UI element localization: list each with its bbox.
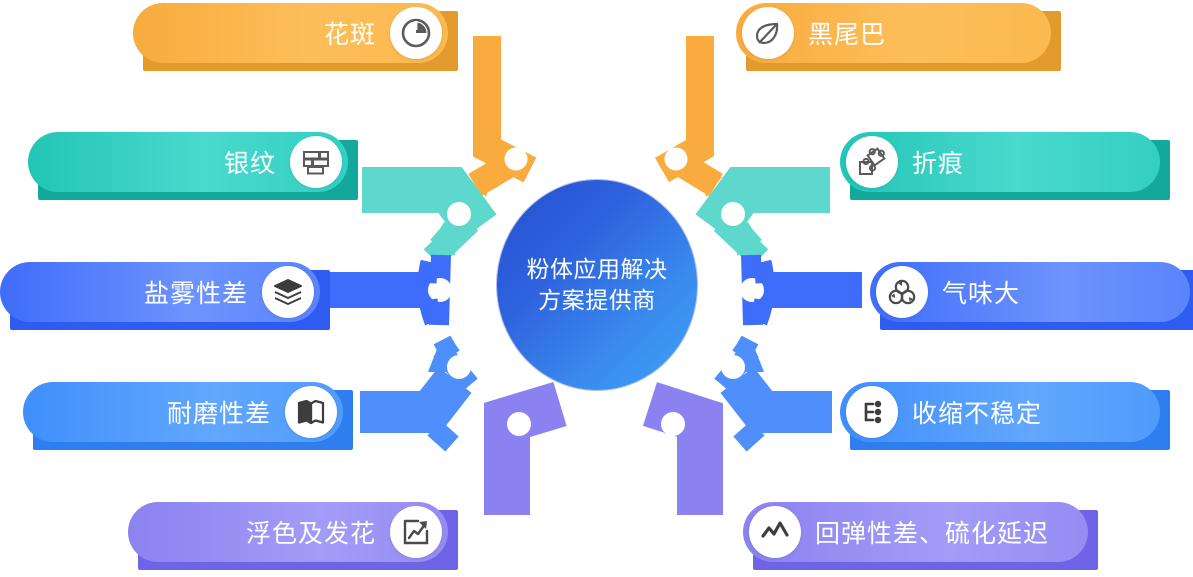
node-pill[interactable]: 耐磨性差 bbox=[23, 382, 343, 442]
node-shou-suo-bu-wen-ding[interactable]: 收缩不稳定 bbox=[840, 382, 1160, 442]
node-qi-wei-da[interactable]: 气味大 bbox=[870, 262, 1190, 322]
connector-yin-wen bbox=[362, 190, 478, 258]
diagram-canvas: 花斑 黑尾巴 银纹 bbox=[0, 0, 1193, 577]
connector-dot bbox=[721, 202, 745, 226]
node-hui-tan-xing-cha-liu-hua-yan-chi[interactable]: 回弹性差、硫化延迟 bbox=[743, 502, 1088, 562]
layers-icon bbox=[262, 266, 314, 318]
node-pill[interactable]: 回弹性差、硫化延迟 bbox=[743, 502, 1088, 562]
node-zhe-hen[interactable]: 折痕 bbox=[840, 132, 1160, 192]
connector-nai-mo-xing-cha bbox=[360, 349, 471, 444]
node-label: 耐磨性差 bbox=[167, 394, 271, 430]
connector-hei-wei-ba bbox=[662, 36, 722, 197]
node-hua-ban[interactable]: 花斑 bbox=[133, 3, 448, 63]
connector-qi-wei-da bbox=[740, 255, 862, 325]
node-label: 银纹 bbox=[224, 144, 276, 180]
node-label: 收缩不稳定 bbox=[912, 394, 1042, 430]
sitemap-icon bbox=[846, 386, 898, 438]
connector-fu-se-ji-fa-hua bbox=[507, 404, 560, 515]
pie-chart-icon bbox=[390, 7, 442, 59]
trend-up-box-icon bbox=[390, 506, 442, 558]
node-pill[interactable]: 气味大 bbox=[870, 262, 1190, 322]
node-pill[interactable]: 盐雾性差 bbox=[0, 262, 320, 322]
center-node[interactable]: 粉体应用解决 方案提供商 bbox=[497, 180, 697, 390]
connector-dot bbox=[665, 148, 688, 171]
node-pill[interactable]: 银纹 bbox=[28, 132, 348, 192]
node-label: 气味大 bbox=[942, 274, 1020, 310]
connector-dot bbox=[447, 355, 471, 379]
center-title: 粉体应用解决 方案提供商 bbox=[527, 254, 668, 316]
node-pill[interactable]: 黑尾巴 bbox=[736, 3, 1051, 63]
connector-zhe-hen bbox=[714, 190, 830, 258]
node-fu-se-ji-fa-hua[interactable]: 浮色及发花 bbox=[128, 502, 448, 562]
node-label: 花斑 bbox=[324, 15, 376, 51]
node-pill[interactable]: 花斑 bbox=[133, 3, 448, 63]
leaf-icon bbox=[742, 7, 794, 59]
connector-dot bbox=[721, 355, 745, 379]
connector-dot bbox=[740, 278, 764, 302]
connector-hua-ban bbox=[470, 36, 530, 197]
puzzle-piece-icon bbox=[846, 136, 898, 188]
connector-hui-tan-xing-cha-liu-hua-yan-chi bbox=[650, 392, 706, 515]
recycle-icon bbox=[876, 266, 928, 318]
connector-dot bbox=[507, 412, 531, 436]
node-label: 盐雾性差 bbox=[144, 274, 248, 310]
node-label: 浮色及发花 bbox=[246, 514, 376, 550]
node-pill[interactable]: 折痕 bbox=[840, 132, 1160, 192]
node-nai-mo-xing-cha[interactable]: 耐磨性差 bbox=[23, 382, 343, 442]
brick-wall-icon bbox=[290, 136, 342, 188]
node-pill[interactable]: 收缩不稳定 bbox=[840, 382, 1160, 442]
node-yin-wen[interactable]: 银纹 bbox=[28, 132, 348, 192]
map-icon bbox=[285, 386, 337, 438]
connector-dot bbox=[447, 202, 471, 226]
connector-dot bbox=[661, 412, 685, 436]
connector-dot bbox=[505, 148, 528, 171]
node-label: 黑尾巴 bbox=[808, 15, 886, 51]
node-hei-wei-ba[interactable]: 黑尾巴 bbox=[736, 3, 1051, 63]
node-pill[interactable]: 浮色及发花 bbox=[128, 502, 448, 562]
node-label: 回弹性差、硫化延迟 bbox=[815, 514, 1049, 550]
node-yan-wu-xing-cha[interactable]: 盐雾性差 bbox=[0, 262, 320, 322]
connector-shou-suo-bu-wen-ding bbox=[721, 349, 832, 444]
line-chart-icon bbox=[749, 506, 801, 558]
node-label: 折痕 bbox=[912, 144, 964, 180]
connector-dot bbox=[428, 278, 452, 302]
connector-yan-wu-xing-cha bbox=[330, 255, 452, 325]
